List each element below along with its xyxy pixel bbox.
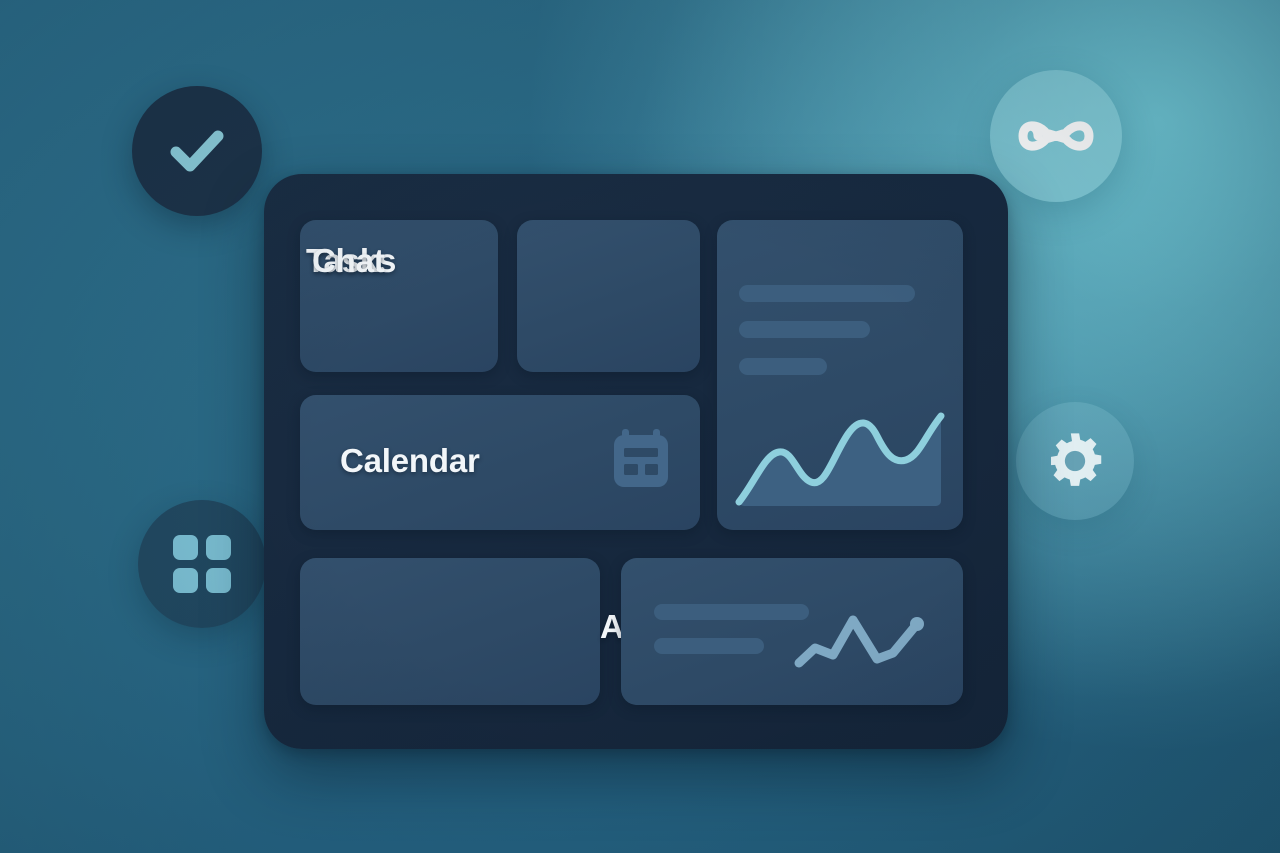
infinity-icon bbox=[1013, 111, 1099, 161]
card-report-chart[interactable] bbox=[717, 220, 963, 530]
card-calendar[interactable]: Calendar bbox=[300, 395, 700, 530]
illustration-scene: Tasks Chat Calendar Analytics bbox=[0, 0, 1280, 853]
card-chat[interactable] bbox=[517, 220, 700, 372]
report-area-chart bbox=[717, 220, 963, 530]
check-icon-badge[interactable] bbox=[132, 86, 262, 216]
grid-icon bbox=[171, 533, 233, 595]
card-analytics[interactable] bbox=[300, 558, 600, 705]
gear-icon-badge[interactable] bbox=[1016, 402, 1134, 520]
card-chat-label: Chat bbox=[312, 242, 385, 280]
card-trend-chart[interactable] bbox=[621, 558, 963, 705]
card-calendar-label: Calendar bbox=[340, 442, 480, 480]
trend-line-chart bbox=[621, 558, 963, 705]
dashboard-panel: Tasks Chat Calendar Analytics bbox=[264, 174, 1008, 749]
grid-icon-badge[interactable] bbox=[138, 500, 266, 628]
gear-icon bbox=[1044, 430, 1106, 492]
infinity-icon-badge[interactable] bbox=[990, 70, 1122, 202]
calendar-icon bbox=[610, 427, 672, 489]
check-icon bbox=[160, 114, 234, 188]
